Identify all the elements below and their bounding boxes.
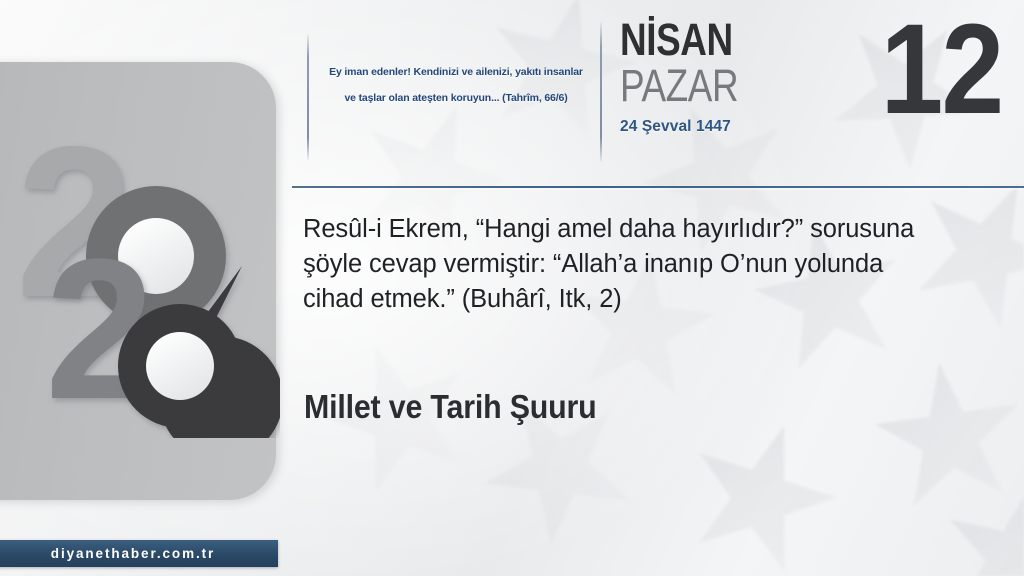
hijri-date: 24 Şevval 1447 (620, 118, 870, 136)
verse-text: Ey iman edenler! Kendinizi ve ailenizi, … (318, 60, 594, 111)
day-number: 12 (880, 6, 1002, 134)
verse-line-2: ve taşlar olan ateşten koruyun... (Tahrî… (318, 86, 594, 112)
verse-left-rule (307, 34, 309, 160)
verse-right-rule (600, 22, 602, 162)
year-logo-2026: 2 2 (10, 108, 280, 438)
quote-line-1: Resûl-i Ekrem, “Hangi amel daha hayırlıd… (303, 212, 963, 247)
month-label: NİSAN (620, 18, 825, 62)
weekday-label: PAZAR (620, 63, 825, 109)
verse-line-1: Ey iman edenler! Kendinizi ve ailenizi, … (318, 60, 594, 86)
footer-url-bar[interactable]: diyanethaber.com.tr (0, 540, 278, 567)
hadith-quote: Resûl-i Ekrem, “Hangi amel daha hayırlıd… (303, 212, 963, 317)
horizontal-divider (292, 186, 1024, 188)
calendar-page: 2 2 Ey iman edenler! Kendinizi ve aileni… (0, 0, 1024, 576)
footer-url-text: diyanethaber.com.tr (51, 546, 215, 561)
date-block: NİSAN PAZAR 24 Şevval 1447 (620, 18, 870, 136)
topic-title: Millet ve Tarih Şuuru (304, 388, 596, 426)
quote-line-2: şöyle cevap vermiştir: “Allah’a inanıp O… (303, 247, 963, 282)
quote-line-3: cihad etmek.” (Buhârî, Itk, 2) (303, 282, 963, 317)
